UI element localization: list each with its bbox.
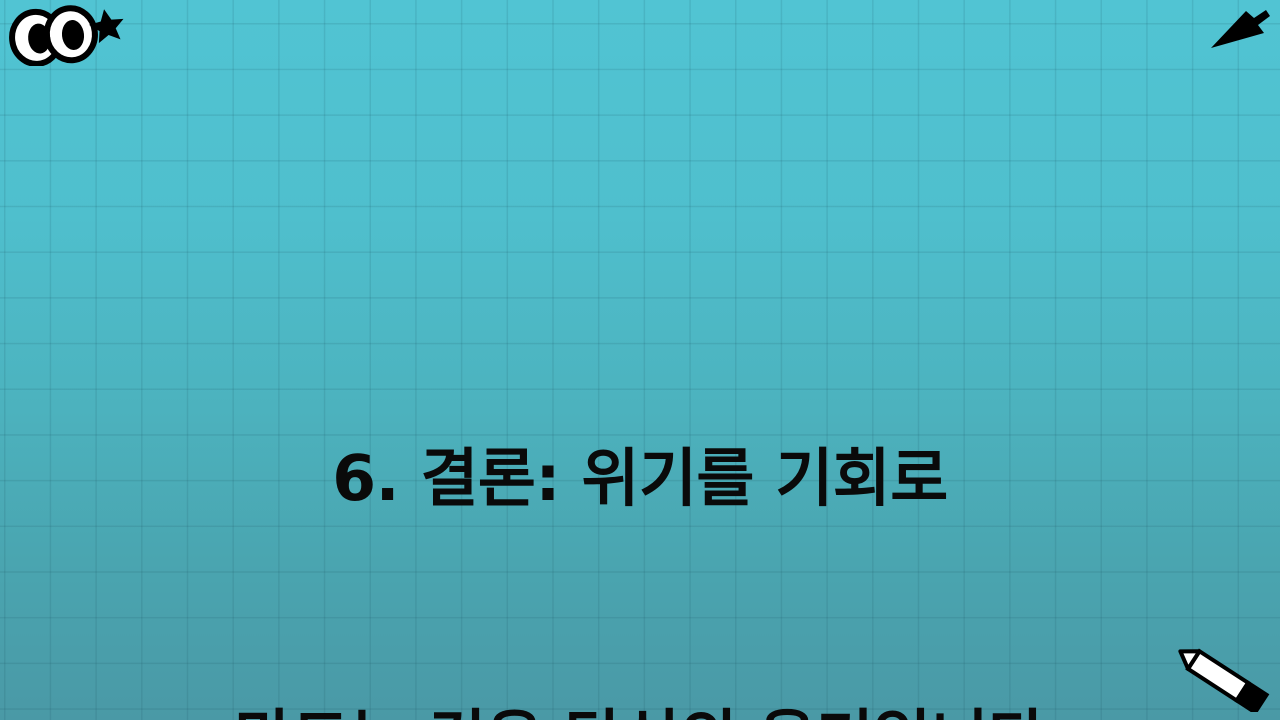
slide-canvas: 6. 결론: 위기를 기회로 만드는 것은 당신의 용기입니다 bbox=[0, 0, 1280, 720]
googly-eyes-logo[interactable] bbox=[8, 4, 128, 66]
headline-line-2: 만드는 것은 당신의 용기입니다 bbox=[0, 697, 1280, 720]
arrow-cursor-glyph bbox=[1208, 4, 1272, 54]
arrow-cursor-icon[interactable] bbox=[1208, 4, 1272, 54]
googly-eyes-icon bbox=[8, 4, 128, 66]
headline-line-1: 6. 결론: 위기를 기회로 bbox=[0, 436, 1280, 523]
page-title: 6. 결론: 위기를 기회로 만드는 것은 당신의 용기입니다 bbox=[0, 262, 1280, 720]
